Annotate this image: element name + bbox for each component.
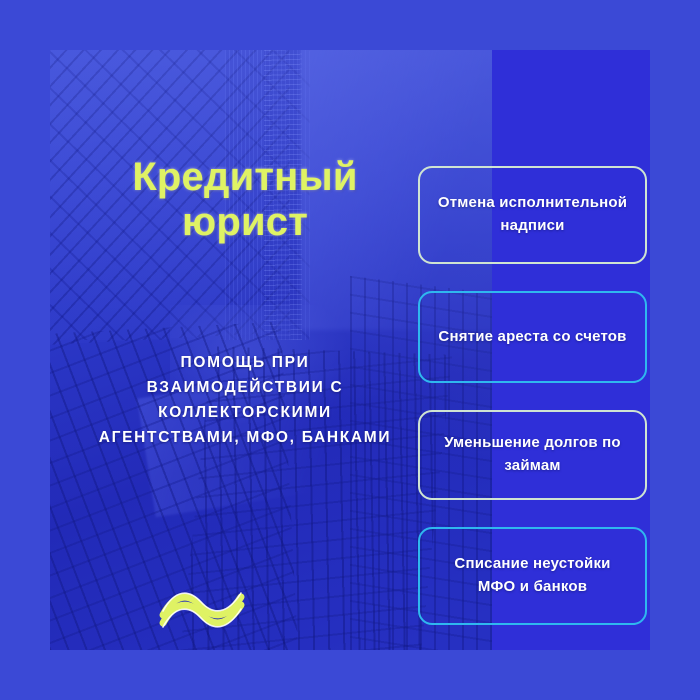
service-card-umenshenie-dolgov-po-zaymam[interactable]: Уменьшение долгов по займам bbox=[418, 410, 647, 500]
service-card-label: Отмена исполнительной надписи bbox=[436, 192, 629, 238]
service-card-spisanie-neustoyki-mfo-i-bankov[interactable]: Списание неустойки МФО и банков bbox=[418, 527, 647, 625]
poster-panel: Кредитный юрист ПОМОЩЬ ПРИ ВЗАИМОДЕЙСТВИ… bbox=[50, 50, 650, 650]
service-card-label: Уменьшение долгов по займам bbox=[436, 432, 629, 478]
page-subtitle: ПОМОЩЬ ПРИ ВЗАИМОДЕЙСТВИИ С КОЛЛЕКТОРСКИ… bbox=[95, 350, 395, 450]
service-card-otmena-ispolnitelnoy-nadpisi[interactable]: Отмена исполнительной надписи bbox=[418, 166, 647, 264]
page-title-line-1: Кредитный bbox=[100, 155, 390, 200]
wave-logo-icon bbox=[155, 575, 251, 637]
poster-root: Кредитный юрист ПОМОЩЬ ПРИ ВЗАИМОДЕЙСТВИ… bbox=[0, 0, 700, 700]
service-card-snyatie-aresta-so-schetov[interactable]: Снятие ареста со счетов bbox=[418, 291, 647, 383]
service-card-label: Списание неустойки МФО и банков bbox=[436, 553, 629, 599]
page-title: Кредитный юрист bbox=[100, 155, 390, 245]
service-card-label: Снятие ареста со счетов bbox=[436, 326, 629, 349]
page-title-line-2: юрист bbox=[100, 200, 390, 245]
service-card-list: Отмена исполнительной надписи Снятие аре… bbox=[418, 166, 650, 650]
